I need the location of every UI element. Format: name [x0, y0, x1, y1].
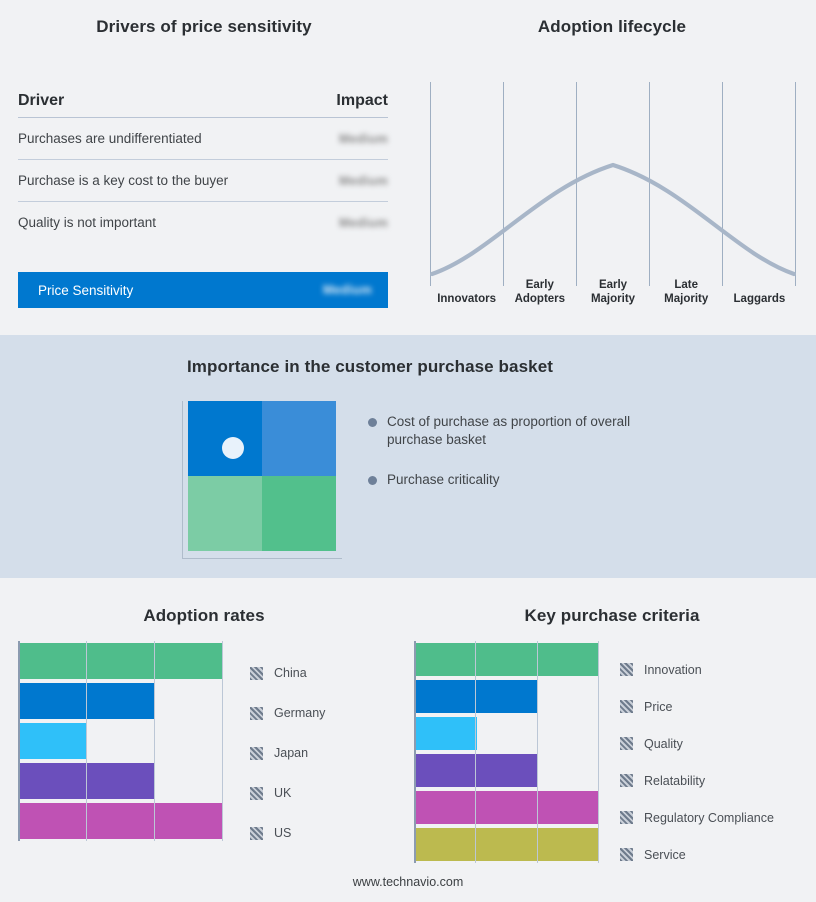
- legend-swatch-icon: [250, 747, 263, 760]
- key-purchase-criteria-panel: Key purchase criteria InnovationPriceQua…: [408, 578, 816, 878]
- matrix-x-axis: [182, 558, 342, 559]
- chart-bar: [416, 791, 598, 824]
- impact-value-redacted: Medium: [339, 174, 388, 188]
- segment-line-2: Majority: [664, 293, 708, 307]
- legend-label: Regulatory Compliance: [644, 811, 774, 825]
- key-purchase-criteria-bars: [416, 641, 598, 863]
- table-row: Purchases are undifferentiated Medium: [18, 118, 388, 160]
- lifecycle-segment-late-majority: Late Majority: [650, 262, 723, 308]
- chart-bar-row: [20, 681, 222, 721]
- legend-swatch-icon: [620, 700, 633, 713]
- legend-swatch-icon: [620, 811, 633, 824]
- chart-bar-row: [416, 752, 598, 789]
- chart-bar-row: [20, 641, 222, 681]
- bullet-icon: [368, 418, 377, 427]
- chart-bar-row: [416, 715, 598, 752]
- purchase-basket-matrix: [182, 401, 352, 571]
- chart-gridline: [86, 641, 87, 841]
- drivers-table-header: Driver Impact: [18, 92, 388, 118]
- driver-label: Purchase is a key cost to the buyer: [18, 173, 296, 188]
- chart-bar-row: [416, 641, 598, 678]
- key-purchase-criteria-chart: InnovationPriceQualityRelatabilityRegula…: [414, 641, 814, 863]
- price-sensitivity-label: Price Sensitivity: [18, 283, 280, 298]
- table-row: Purchase is a key cost to the buyer Medi…: [18, 160, 388, 202]
- chart-bar: [416, 643, 598, 676]
- segment-line-2: Innovators: [437, 293, 496, 307]
- matrix-quadrant-top-left: [188, 401, 262, 476]
- impact-value-cell: Medium: [296, 130, 388, 148]
- chart-bar-row: [416, 678, 598, 715]
- segment-line-2: Adopters: [515, 293, 565, 307]
- legend-label: Innovation: [644, 663, 702, 677]
- legend-label: UK: [274, 786, 291, 800]
- legend-label: Quality: [644, 737, 683, 751]
- legend-swatch-icon: [250, 667, 263, 680]
- chart-gridline: [154, 641, 155, 841]
- legend-swatch-icon: [250, 827, 263, 840]
- adoption-lifecycle-title: Adoption lifecycle: [408, 17, 816, 37]
- chart-bar: [20, 763, 155, 799]
- chart-gridline: [598, 641, 599, 863]
- matrix-quadrants: [188, 401, 336, 551]
- chart-bar-row: [416, 789, 598, 826]
- legend-swatch-icon: [620, 774, 633, 787]
- key-purchase-criteria-plot-area: [414, 641, 598, 863]
- legend-label: US: [274, 826, 291, 840]
- segment-line-1: Early: [526, 279, 554, 293]
- legend-item: Quality: [620, 725, 774, 762]
- segment-line-1: Late: [674, 279, 698, 293]
- chart-bar: [416, 680, 537, 713]
- legend-item: Regulatory Compliance: [620, 799, 774, 836]
- legend-item: US: [250, 813, 325, 853]
- adoption-rates-plot-area: [18, 641, 222, 841]
- footer-url: www.technavio.com: [0, 875, 816, 889]
- column-header-impact: Impact: [296, 92, 388, 110]
- adoption-rates-panel: Adoption rates ChinaGermanyJapanUKUS: [0, 578, 408, 878]
- legend-swatch-icon: [620, 848, 633, 861]
- impact-value-cell: Medium: [296, 172, 388, 190]
- chart-bar: [20, 683, 155, 719]
- price-sensitivity-impact-cell: Medium: [280, 281, 388, 299]
- lifecycle-segment-innovators: Innovators: [430, 262, 503, 308]
- adoption-rates-legend: ChinaGermanyJapanUKUS: [250, 653, 325, 853]
- legend-swatch-icon: [620, 737, 633, 750]
- matrix-y-axis: [182, 401, 183, 559]
- chart-gridline: [537, 641, 538, 863]
- legend-label: Relatability: [644, 774, 705, 788]
- list-item: Cost of purchase as proportion of overal…: [368, 413, 668, 449]
- drivers-panel: Drivers of price sensitivity Driver Impa…: [0, 0, 408, 335]
- legend-label: Price: [644, 700, 672, 714]
- chart-bar-row: [416, 826, 598, 863]
- purchase-basket-legend: Cost of purchase as proportion of overal…: [368, 413, 668, 511]
- chart-gridline: [475, 641, 476, 863]
- price-sensitivity-summary-row: Price Sensitivity Medium: [18, 272, 388, 308]
- legend-label: Japan: [274, 746, 308, 760]
- list-item: Purchase criticality: [368, 471, 668, 489]
- key-purchase-criteria-legend: InnovationPriceQualityRelatabilityRegula…: [620, 651, 774, 873]
- chart-bar: [20, 803, 222, 839]
- legend-swatch-icon: [620, 663, 633, 676]
- adoption-lifecycle-panel: Adoption lifecycle Innovators Early Adop…: [408, 0, 816, 335]
- segment-line-2: Laggards: [734, 293, 786, 307]
- bell-curve-path: [432, 165, 794, 274]
- lifecycle-segment-labels: Innovators Early Adopters Early Majority…: [430, 262, 796, 308]
- matrix-quadrant-bottom-right: [262, 476, 336, 551]
- lifecycle-segment-dividers: [431, 82, 796, 286]
- segment-line-2: Majority: [591, 293, 635, 307]
- chart-bar-row: [20, 801, 222, 841]
- chart-bar: [416, 828, 598, 861]
- legend-label: Germany: [274, 706, 325, 720]
- legend-label: Purchase criticality: [387, 471, 500, 489]
- legend-item: China: [250, 653, 325, 693]
- legend-item: Germany: [250, 693, 325, 733]
- drivers-panel-title: Drivers of price sensitivity: [0, 17, 408, 37]
- matrix-quadrant-bottom-left: [188, 476, 262, 551]
- adoption-rates-bars: [20, 641, 222, 841]
- purchase-basket-title: Importance in the customer purchase bask…: [0, 357, 740, 377]
- position-marker-icon: [222, 437, 244, 459]
- chart-bar-row: [20, 721, 222, 761]
- legend-swatch-icon: [250, 787, 263, 800]
- impact-value-cell: Medium: [296, 214, 388, 232]
- legend-swatch-icon: [250, 707, 263, 720]
- impact-value-redacted: Medium: [339, 132, 388, 146]
- chart-gridline: [222, 641, 223, 841]
- chart-bar-row: [20, 761, 222, 801]
- legend-item: Innovation: [620, 651, 774, 688]
- legend-item: Service: [620, 836, 774, 873]
- legend-label: China: [274, 666, 307, 680]
- chart-bar: [416, 717, 477, 750]
- legend-item: Japan: [250, 733, 325, 773]
- legend-item: Price: [620, 688, 774, 725]
- adoption-lifecycle-chart: Innovators Early Adopters Early Majority…: [430, 78, 796, 308]
- driver-label: Purchases are undifferentiated: [18, 131, 296, 146]
- impact-value-redacted: Medium: [323, 283, 372, 297]
- lifecycle-segment-early-adopters: Early Adopters: [503, 262, 576, 308]
- legend-label: Service: [644, 848, 686, 862]
- chart-bar: [416, 754, 537, 787]
- bullet-icon: [368, 476, 377, 485]
- table-row: Quality is not important Medium: [18, 202, 388, 243]
- legend-item: UK: [250, 773, 325, 813]
- impact-value-redacted: Medium: [339, 216, 388, 230]
- segment-line-1: Early: [599, 279, 627, 293]
- chart-bar: [20, 723, 87, 759]
- column-header-driver: Driver: [18, 92, 296, 110]
- lifecycle-segment-early-majority: Early Majority: [576, 262, 649, 308]
- lifecycle-segment-laggards: Laggards: [723, 262, 796, 308]
- legend-item: Relatability: [620, 762, 774, 799]
- legend-label: Cost of purchase as proportion of overal…: [387, 413, 668, 449]
- drivers-table: Driver Impact Purchases are undifferenti…: [18, 92, 388, 243]
- adoption-rates-chart: ChinaGermanyJapanUKUS: [18, 641, 388, 841]
- purchase-basket-panel: Importance in the customer purchase bask…: [0, 335, 816, 578]
- matrix-quadrant-top-right: [262, 401, 336, 476]
- driver-label: Quality is not important: [18, 215, 296, 230]
- key-purchase-criteria-title: Key purchase criteria: [408, 606, 816, 626]
- adoption-rates-title: Adoption rates: [0, 606, 408, 626]
- chart-bar: [20, 643, 222, 679]
